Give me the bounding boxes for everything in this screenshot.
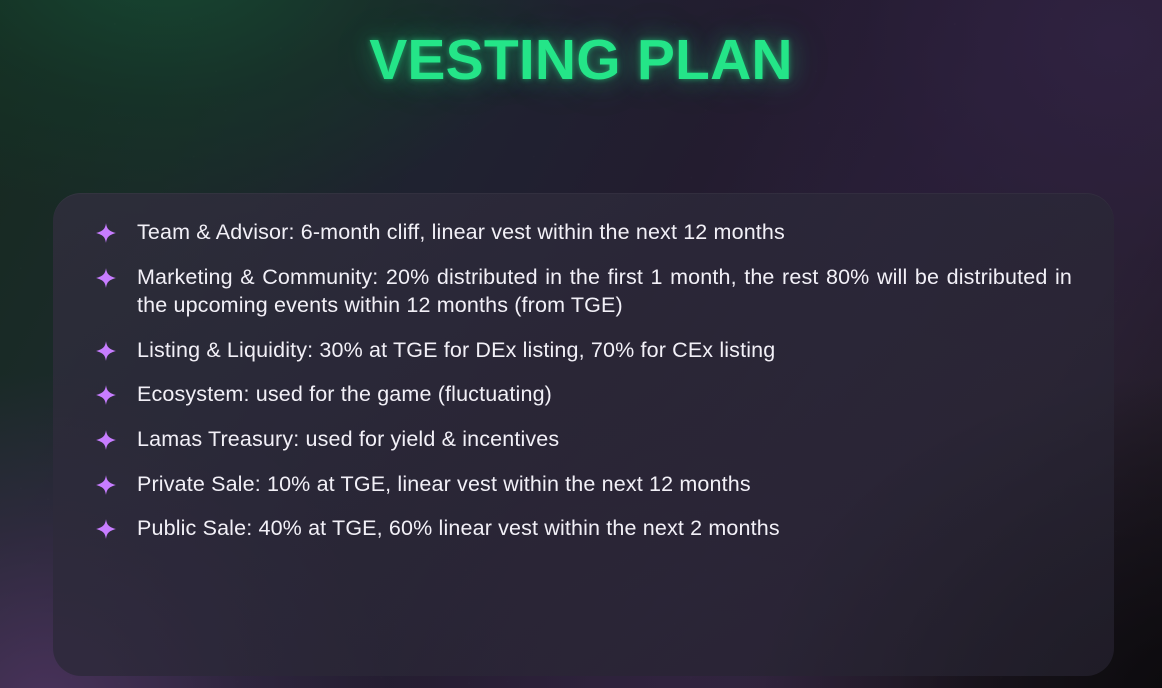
vesting-list: Team & Advisor: 6-month cliff, linear ve… (95, 218, 1072, 543)
sparkle-icon (95, 384, 117, 406)
list-item: Team & Advisor: 6-month cliff, linear ve… (95, 218, 1072, 247)
list-item-text: Team & Advisor: 6-month cliff, linear ve… (137, 220, 785, 244)
title-container: VESTING PLAN (0, 0, 1162, 120)
vesting-details-card: Team & Advisor: 6-month cliff, linear ve… (53, 193, 1114, 676)
list-item: Private Sale: 10% at TGE, linear vest wi… (95, 470, 1072, 499)
list-item: Public Sale: 40% at TGE, 60% linear vest… (95, 514, 1072, 543)
sparkle-icon (95, 518, 117, 540)
sparkle-icon (95, 222, 117, 244)
list-item-text: Public Sale: 40% at TGE, 60% linear vest… (137, 516, 780, 540)
sparkle-icon (95, 429, 117, 451)
list-item: Listing & Liquidity: 30% at TGE for DEx … (95, 336, 1072, 365)
list-item-text: Listing & Liquidity: 30% at TGE for DEx … (137, 338, 775, 362)
list-item-text: Private Sale: 10% at TGE, linear vest wi… (137, 472, 751, 496)
sparkle-icon (95, 267, 117, 289)
list-item: Ecosystem: used for the game (fluctuatin… (95, 380, 1072, 409)
page-title: VESTING PLAN (369, 32, 793, 89)
list-item-text: Lamas Treasury: used for yield & incenti… (137, 427, 559, 451)
sparkle-icon (95, 340, 117, 362)
vesting-plan-slide: VESTING PLAN Team & Advisor: 6-month cli… (0, 0, 1162, 688)
list-item: Lamas Treasury: used for yield & incenti… (95, 425, 1072, 454)
list-item-text: Ecosystem: used for the game (fluctuatin… (137, 382, 552, 406)
sparkle-icon (95, 474, 117, 496)
list-item: Marketing & Community: 20% distributed i… (95, 263, 1072, 320)
list-item-text: Marketing & Community: 20% distributed i… (137, 265, 1072, 318)
